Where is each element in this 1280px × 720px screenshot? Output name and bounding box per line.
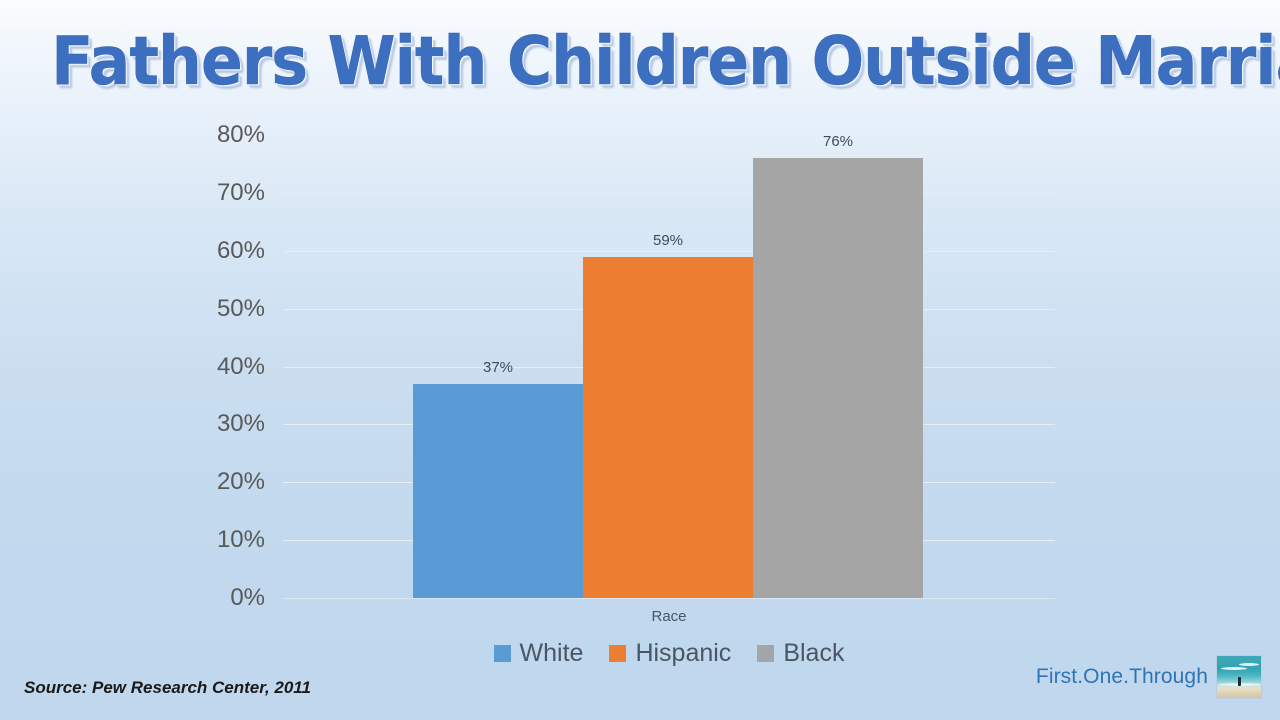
y-axis-tick-label: 40%: [205, 353, 265, 381]
bar-value-label: 76%: [753, 133, 923, 150]
gridline: [283, 251, 1055, 252]
beach-photo-thumbnail: [1216, 655, 1262, 699]
y-axis-tick-label: 70%: [205, 179, 265, 207]
y-axis-tick-label: 60%: [205, 237, 265, 265]
bar-black[interactable]: [753, 158, 923, 598]
y-axis-tick-label: 50%: [205, 295, 265, 323]
y-axis-tick-label: 80%: [205, 121, 265, 149]
gridline: [283, 598, 1055, 599]
legend-swatch-icon: [609, 645, 626, 662]
legend-label: White: [520, 641, 584, 666]
legend-item-hispanic[interactable]: Hispanic: [609, 641, 731, 666]
bar-value-label: 37%: [413, 359, 583, 376]
wave-shape: [1239, 663, 1259, 666]
y-axis-tick: 30%: [200, 410, 265, 434]
y-axis-tick: 10%: [200, 526, 265, 550]
bar-white[interactable]: [413, 384, 583, 598]
bar-hispanic[interactable]: [583, 257, 753, 598]
y-axis-tick: 80%: [200, 121, 265, 145]
gridline: [283, 193, 1055, 194]
y-axis-tick: 40%: [200, 353, 265, 377]
bar-value-label: 59%: [583, 232, 753, 249]
y-axis-tick: 0%: [200, 584, 265, 608]
legend-swatch-icon: [757, 645, 774, 662]
bar-chart: 0%10%20%30%40%50%60%70%80% 37%59%76% Rac…: [0, 0, 1280, 720]
wave-shape: [1221, 667, 1247, 670]
y-axis-tick-label: 0%: [205, 584, 265, 612]
y-axis-tick-label: 30%: [205, 410, 265, 438]
watermark: First.One.Through: [1036, 655, 1262, 699]
y-axis-tick: 70%: [200, 179, 265, 203]
legend-item-black[interactable]: Black: [757, 641, 844, 666]
legend-swatch-icon: [494, 645, 511, 662]
slide-canvas: Fathers With Children Outside Marriage 0…: [0, 0, 1280, 720]
watermark-label: First.One.Through: [1036, 665, 1208, 689]
legend-label: Hispanic: [635, 641, 731, 666]
y-axis-tick-label: 10%: [205, 526, 265, 554]
y-axis-tick: 50%: [200, 295, 265, 319]
legend-item-white[interactable]: White: [494, 641, 584, 666]
legend-label: Black: [783, 641, 844, 666]
person-silhouette: [1238, 677, 1241, 686]
y-axis-tick: 20%: [200, 468, 265, 492]
source-note: Source: Pew Research Center, 2011: [24, 678, 311, 698]
gridline: [283, 135, 1055, 136]
y-axis-tick-label: 20%: [205, 468, 265, 496]
x-axis-title: Race: [283, 608, 1055, 625]
chart-legend: WhiteHispanicBlack: [283, 641, 1055, 666]
y-axis-tick: 60%: [200, 237, 265, 261]
